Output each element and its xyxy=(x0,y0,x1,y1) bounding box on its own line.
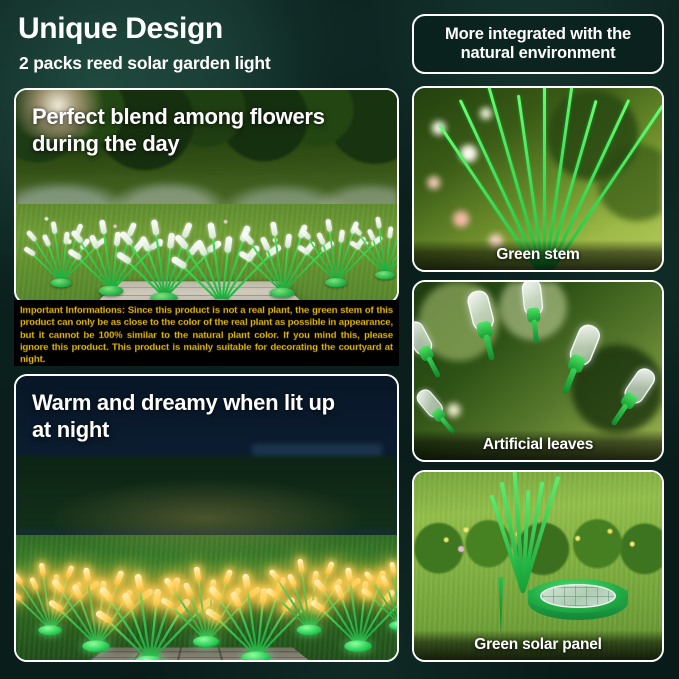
solar-base xyxy=(82,641,109,653)
photo-artificial-leaves: Artificial leaves xyxy=(412,280,664,462)
bulb-rod xyxy=(483,335,495,362)
bulb-rod xyxy=(610,402,628,425)
solar-base xyxy=(51,279,72,288)
reed-light-tip xyxy=(42,234,52,247)
reed-light-tip xyxy=(182,581,194,597)
bulb-rod xyxy=(425,357,440,379)
solar-base xyxy=(98,285,123,295)
solar-base xyxy=(193,636,219,647)
reed-light xyxy=(375,530,397,632)
solar-cell-icon xyxy=(540,584,616,608)
infographic-root: Unique Design 2 packs reed solar garden … xyxy=(0,0,679,679)
solar-base xyxy=(345,641,372,653)
solar-base xyxy=(270,288,295,298)
reed-light xyxy=(188,181,254,302)
photo-green-stem: Green stem xyxy=(412,86,664,272)
photo-day-garden: Perfect blend among flowers during the d… xyxy=(14,88,399,304)
reed-light-tip xyxy=(229,590,243,608)
reed-light xyxy=(310,187,361,289)
reed-light-tip xyxy=(167,233,176,249)
reed-light-tip xyxy=(285,233,293,248)
reed-light-tip xyxy=(260,236,272,251)
solar-base xyxy=(134,656,165,660)
reed-light-tip xyxy=(51,221,58,234)
reed-light xyxy=(254,186,311,300)
reed-light xyxy=(113,530,184,660)
reed-light-tip xyxy=(38,563,46,577)
reed-light-tip xyxy=(338,230,345,243)
important-information-box: Important Informations: Since this produ… xyxy=(14,300,399,366)
reed-light-tip xyxy=(389,561,397,574)
solar-stem-bundle xyxy=(488,476,552,593)
photo-solar-caption: Green solar panel xyxy=(414,630,662,660)
night-hedge xyxy=(16,456,397,530)
reed-light-tip xyxy=(28,577,39,592)
photo-stem-caption: Green stem xyxy=(414,240,662,270)
photo-night-caption: Warm and dreamy when lit up at night xyxy=(32,390,357,444)
solar-base xyxy=(324,278,346,287)
callout-badge: More integrated with the natural environ… xyxy=(412,14,664,74)
reed-light-tip xyxy=(315,232,325,246)
reed-light-tip xyxy=(241,573,251,591)
reed-light-tip xyxy=(71,584,84,601)
reed-light-tip xyxy=(121,592,135,611)
solar-base xyxy=(375,271,395,280)
reed-light-tip xyxy=(152,589,162,608)
important-information-text: Important Informations: Since this produ… xyxy=(14,300,399,366)
page-title: Unique Design xyxy=(18,13,223,45)
reed-light-tip xyxy=(193,566,202,582)
page-subtitle: 2 packs reed solar garden light xyxy=(19,53,271,74)
reed-light-tip xyxy=(375,216,382,228)
photo-green-solar-panel: Green solar panel xyxy=(412,470,664,662)
reed-light-tip xyxy=(380,574,390,588)
reed-light-tip xyxy=(325,219,333,232)
reed-light-tip xyxy=(345,567,354,584)
reed-light xyxy=(362,187,397,281)
reed-light-tip xyxy=(134,574,144,593)
solar-base xyxy=(38,626,61,636)
reed-light-tip xyxy=(286,573,298,588)
reed-light-tip xyxy=(82,567,91,584)
reed-light-tip xyxy=(334,584,347,601)
reed-light-tip xyxy=(270,221,278,236)
photo-night-garden: Warm and dreamy when lit up at night xyxy=(14,374,399,662)
reed-light-tip xyxy=(207,222,217,239)
solar-base xyxy=(297,625,322,635)
reed-light-tip xyxy=(224,236,233,253)
reed-light-tip xyxy=(88,234,100,249)
bulb-rod xyxy=(561,367,577,394)
photo-leaves-caption: Artificial leaves xyxy=(414,430,662,460)
reed-light-tip xyxy=(387,226,393,238)
reed-light-tip xyxy=(367,228,376,241)
reed-light-tip xyxy=(139,236,152,253)
bulb-rod xyxy=(531,319,539,343)
reed-light-tip xyxy=(195,238,208,256)
solar-base xyxy=(389,621,397,630)
solar-panel-disc xyxy=(528,579,628,625)
reed-light-tip xyxy=(99,219,107,234)
reed-light-tip xyxy=(63,232,70,245)
reed-light-tip xyxy=(297,559,305,574)
solar-base xyxy=(241,651,270,660)
reed-light-tip xyxy=(151,219,160,236)
photo-day-caption: Perfect blend among flowers during the d… xyxy=(32,104,357,158)
